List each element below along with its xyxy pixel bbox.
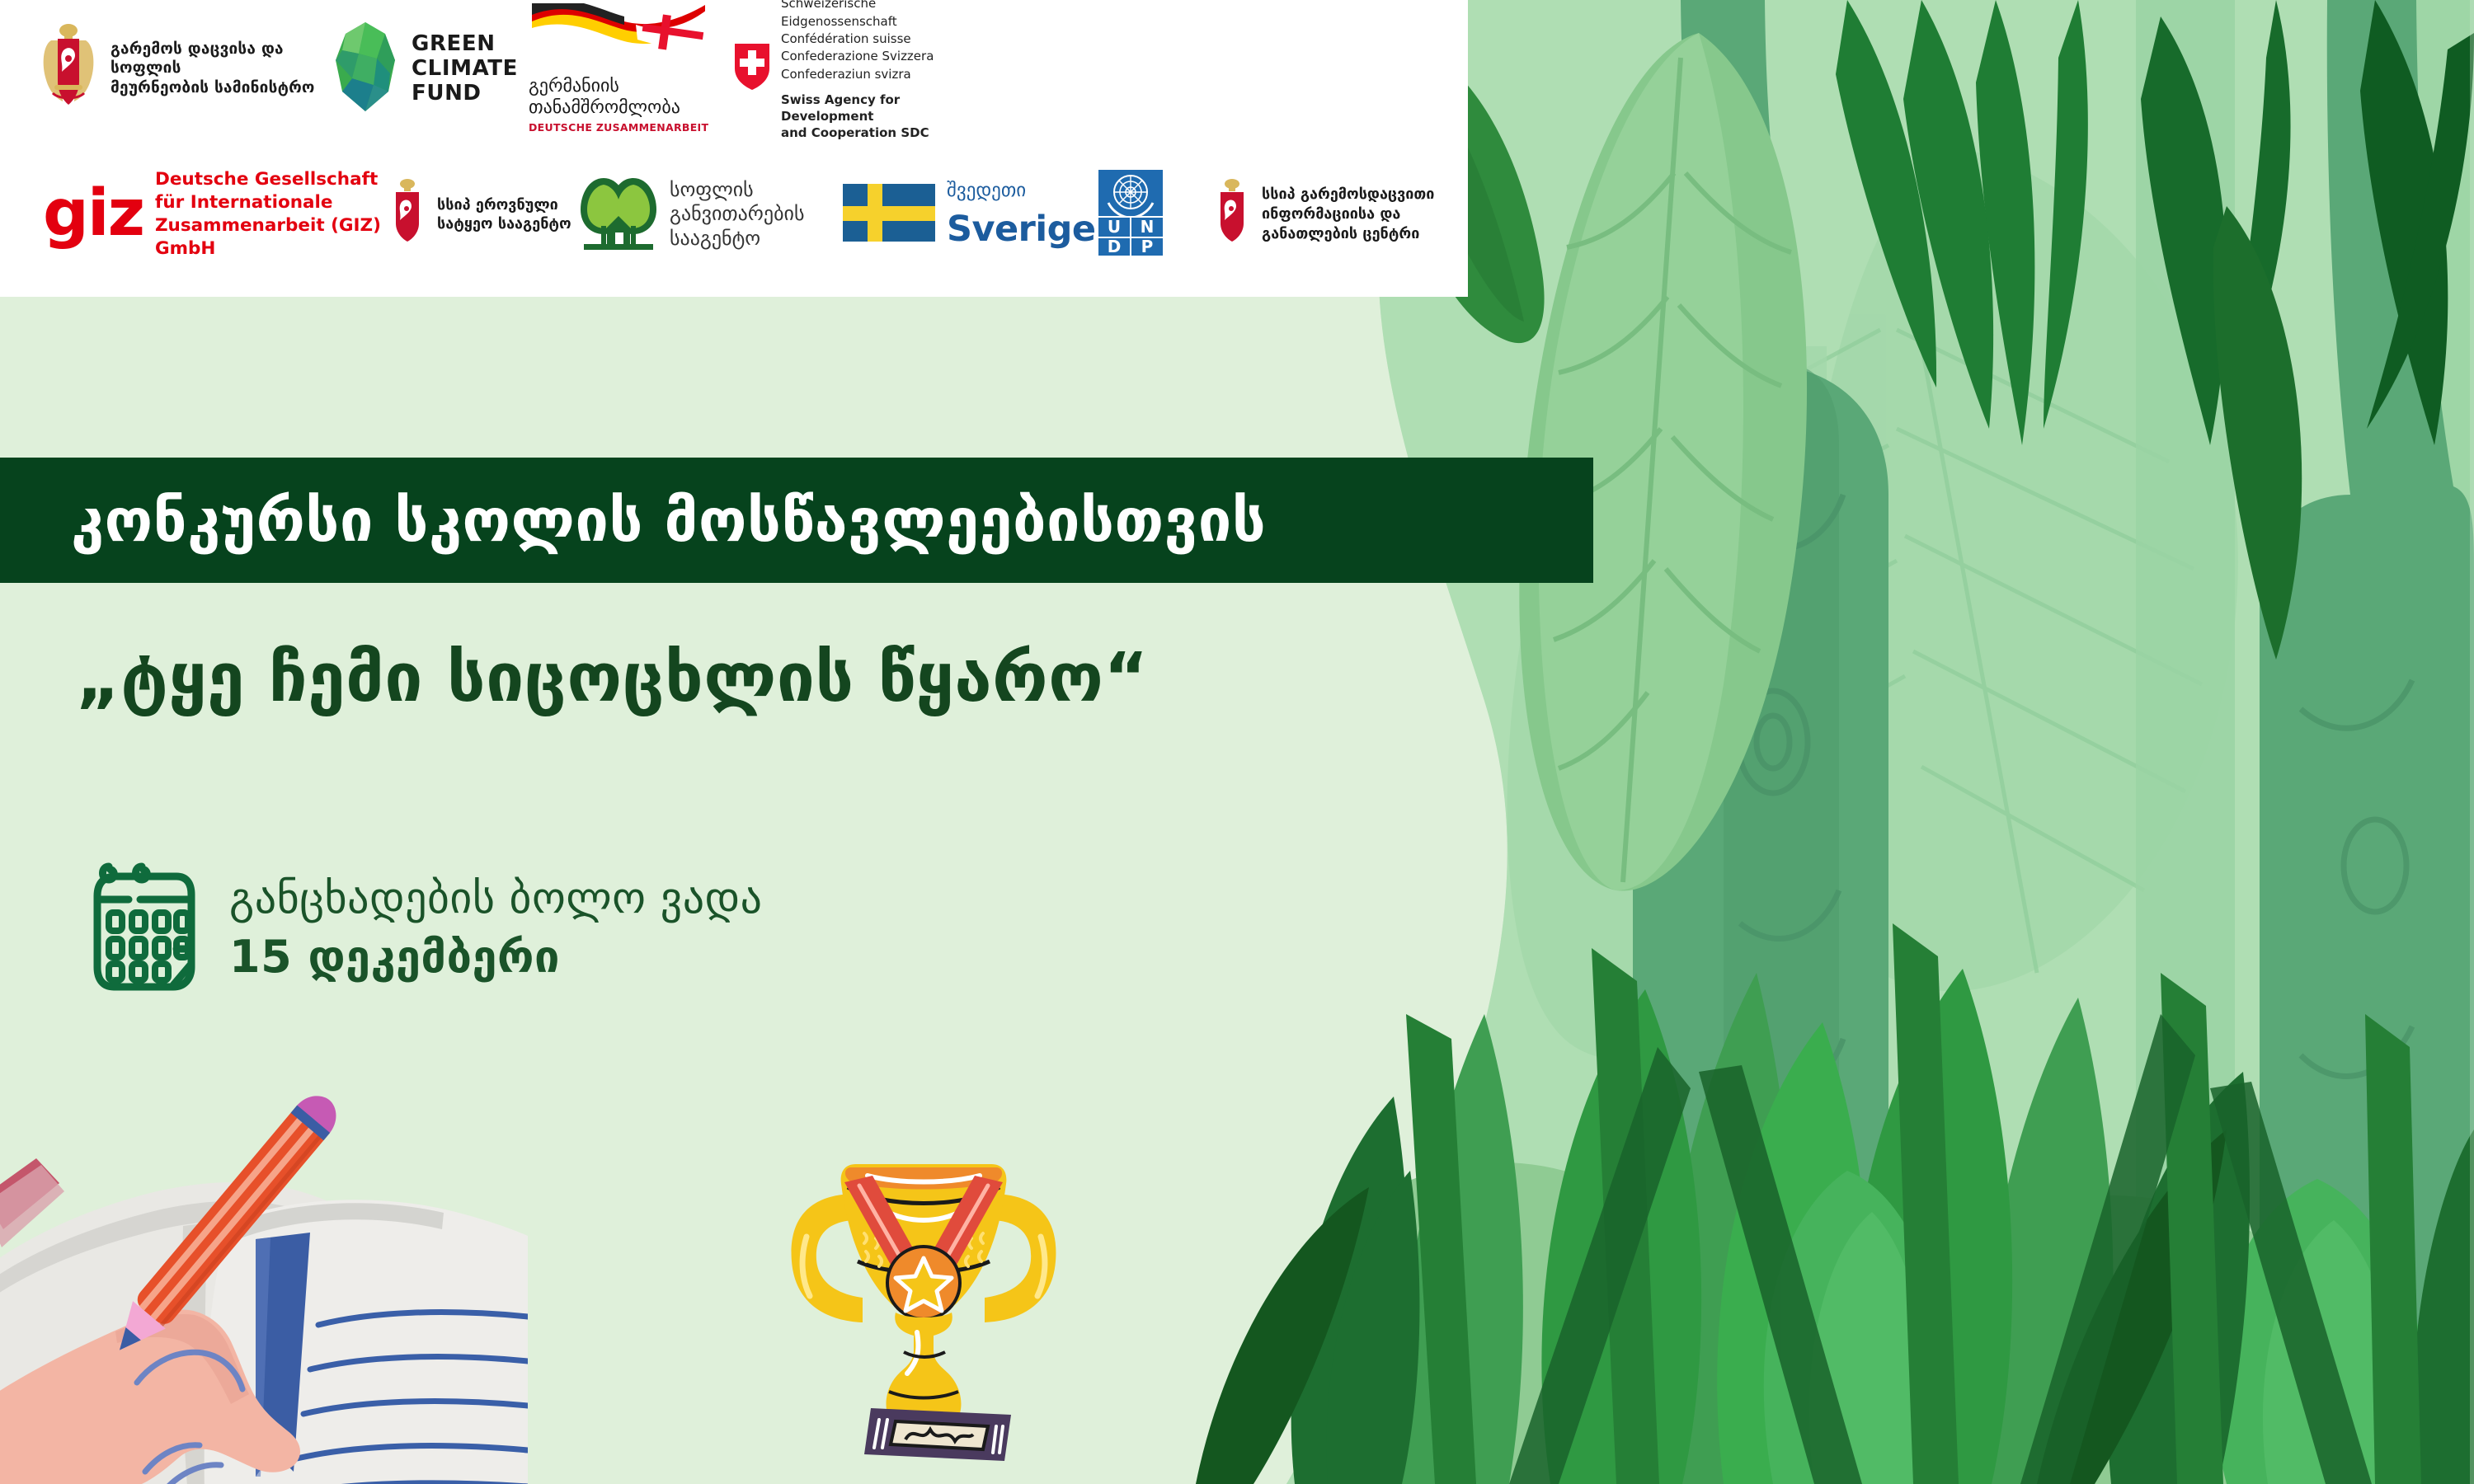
headline-text: კონკურსი სკოლის მოსწავლეებისთვის — [71, 486, 1266, 555]
logo-ministry-label: გარემოს დაცვისა და სოფლის მეურნეობის სამ… — [111, 40, 331, 97]
logo-row-1: გარემოს დაცვისა და სოფლის მეურნეობის სამ… — [38, 7, 982, 130]
logo-giz-label: Deutsche Gesellschaft für Internationale… — [155, 168, 389, 261]
logo-environmental-information-education-centre: სსიპ გარემოსდაცვითი ინფორმაციისა და განა… — [1214, 177, 1461, 251]
logo-german-subtext: DEUTSCHE ZUSAMMENARBEIT — [529, 122, 710, 134]
deadline-block: განცხადების ბოლო ვადა 15 დეკემბერი — [91, 862, 763, 997]
deadline-text-group: განცხადების ბოლო ვადა 15 დეკემბერი — [229, 876, 763, 984]
logo-german-label: გერმანიის თანამშრომლობა DEUTSCHE ZUSAMME… — [529, 0, 710, 155]
svg-text:U: U — [1108, 217, 1121, 237]
deadline-label: განცხადების ბოლო ვადა — [229, 876, 763, 923]
georgia-coat-of-arms-icon — [38, 21, 99, 116]
swiss-shield-cross-icon — [735, 44, 769, 93]
logo-rural-development-agency: სოფლის განვითარების სააგენტო — [579, 175, 843, 254]
logo-rural-label: სოფლის განვითარების სააგენტო — [670, 178, 804, 251]
svg-text:D: D — [1108, 237, 1122, 256]
logo-german-text: გერმანიის თანამშრომლობა — [529, 76, 680, 118]
svg-text:N: N — [1141, 217, 1155, 237]
logo-swiss-text: Schweizerische Eidgenossenschaft Confédé… — [781, 0, 934, 82]
headline-banner: კონკურსი სკოლის მოსწავლეებისთვის — [0, 458, 1593, 583]
logo-german-cooperation: გერმანიის თანამშრომლობა DEUTSCHE ZUSAMME… — [529, 0, 735, 155]
logo-ministry-of-environment: გარემოს დაცვისა და სოფლის მეურნეობის სამ… — [38, 21, 331, 116]
green-climate-fund-gem-icon — [331, 21, 400, 116]
logo-swiss-subtext: Swiss Agency for Development and Coopera… — [781, 92, 982, 142]
logo-sverige-ka: შვედეთი — [947, 181, 1096, 200]
georgia-coat-of-arms-icon — [389, 177, 426, 251]
logo-row-2: giz Deutsche Gesellschaft für Internatio… — [43, 157, 1461, 272]
logo-eiec-label: სსიპ გარემოსდაცვითი ინფორმაციისა და განა… — [1262, 185, 1434, 243]
logo-sverige: შვედეთი Sverige — [843, 168, 1098, 261]
subtitle-text: „ტყე ჩემი სიცოცხლის წყარო“ — [76, 639, 1149, 717]
logo-undp: U N D P — [1098, 170, 1214, 259]
svg-text:P: P — [1141, 237, 1154, 256]
calendar-icon — [91, 862, 196, 997]
gold-trophy-illustration — [759, 1146, 1089, 1484]
poster-canvas: გარემოს დაცვისა და სოფლის მეურნეობის სამ… — [0, 0, 2474, 1484]
logo-national-forestry-agency: სსიპ ეროვნული სატყეო სააგენტო — [389, 177, 579, 251]
logo-gcf-label: GREEN CLIMATE FUND — [412, 31, 518, 106]
hand-writing-in-notebook-illustration — [0, 1035, 528, 1484]
logo-sverige-en: Sverige — [947, 212, 1096, 247]
undp-emblem-icon: U N D P — [1098, 170, 1163, 259]
partner-logos-header: გარემოს დაცვისა და სოფლის მეურნეობის სამ… — [0, 0, 1468, 297]
logo-sverige-label: შვედეთი Sverige — [947, 168, 1096, 261]
trees-house-icon — [579, 175, 658, 254]
logo-green-climate-fund: GREEN CLIMATE FUND — [331, 21, 529, 116]
giz-wordmark-icon: giz — [43, 188, 143, 241]
georgia-coat-of-arms-icon — [1214, 177, 1250, 251]
logo-swiss-label: Schweizerische Eidgenossenschaft Confédé… — [781, 0, 982, 159]
logo-giz: giz Deutsche Gesellschaft für Internatio… — [43, 168, 389, 261]
swedish-flag-icon — [843, 184, 935, 245]
deadline-date: 15 დეკემბერი — [229, 931, 763, 984]
logo-swiss-sdc: Schweizerische Eidgenossenschaft Confédé… — [735, 0, 982, 159]
logo-forestry-label: სსიპ ეროვნული სატყეო სააგენტო — [437, 195, 571, 234]
german-georgian-flag-ribbon-icon — [529, 3, 710, 51]
